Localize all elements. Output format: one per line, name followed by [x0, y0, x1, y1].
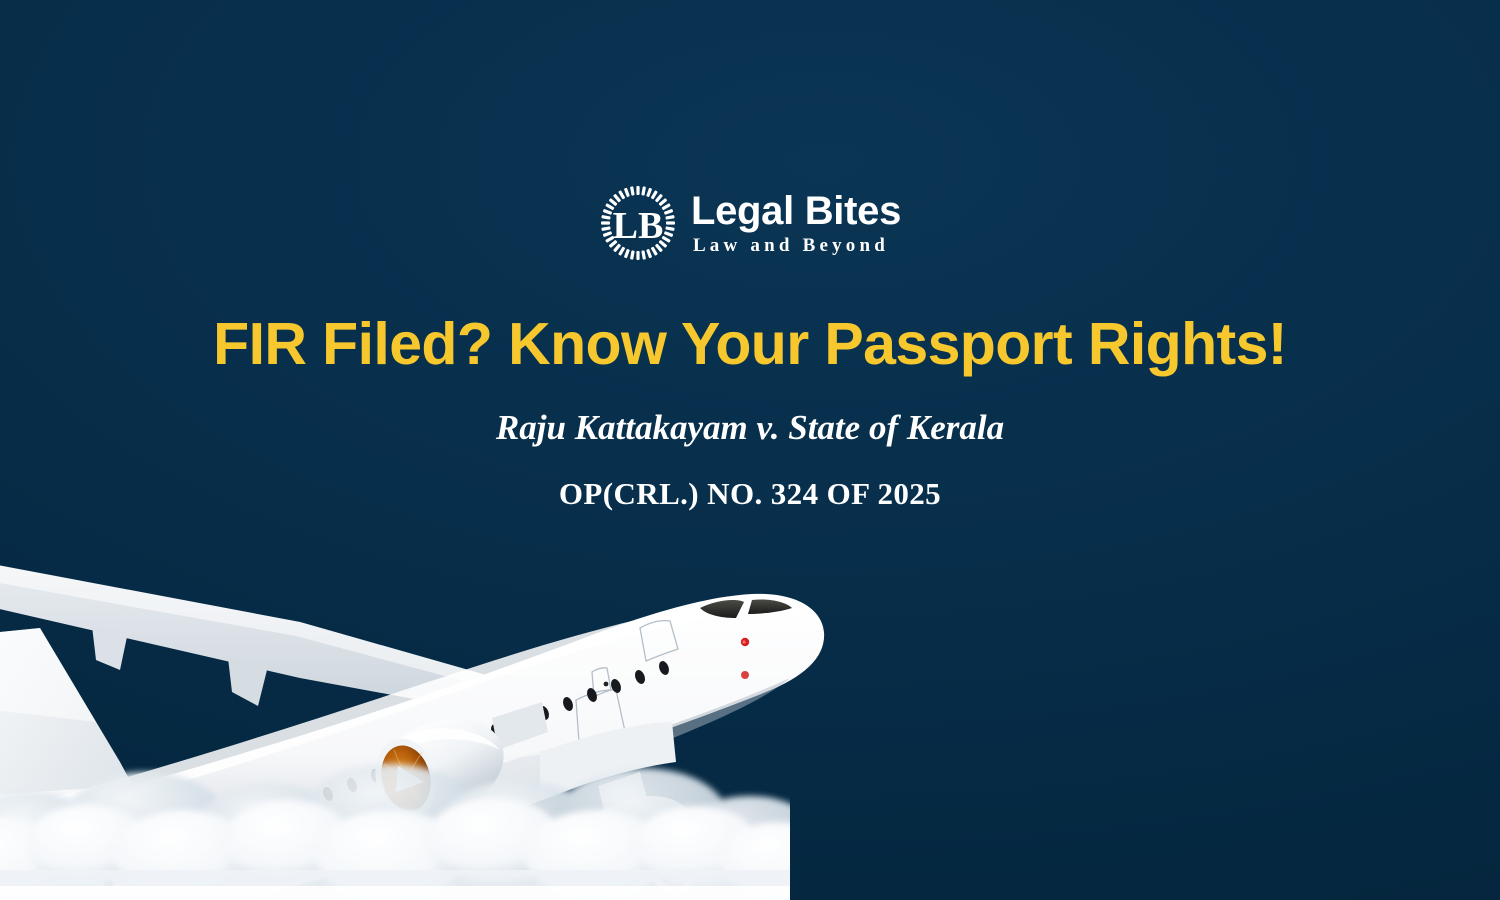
legal-bites-lb-sunburst-icon: LB — [599, 184, 677, 262]
case-announcement-banner: LB Legal Bites Law and Beyond FIR Filed?… — [0, 0, 1500, 900]
brand-wordmark: Legal Bites Law and Beyond — [691, 189, 901, 257]
brand-name: Legal Bites — [691, 189, 901, 233]
brand-tagline: Law and Beyond — [691, 235, 889, 257]
door-porthole — [119, 855, 124, 860]
airplane-illustration — [0, 500, 860, 900]
lb-monogram-text: LB — [613, 205, 664, 247]
engine-nacelle-2 — [562, 772, 709, 900]
case-name: Raju Kattakayam v. State of Kerala — [0, 405, 1500, 451]
case-number: OP(CRL.) NO. 324 OF 2025 — [0, 473, 1500, 515]
door-porthole — [604, 682, 609, 687]
page-title: FIR Filed? Know Your Passport Rights! — [0, 307, 1500, 381]
brand-logo[interactable]: LB Legal Bites Law and Beyond — [0, 184, 1500, 262]
